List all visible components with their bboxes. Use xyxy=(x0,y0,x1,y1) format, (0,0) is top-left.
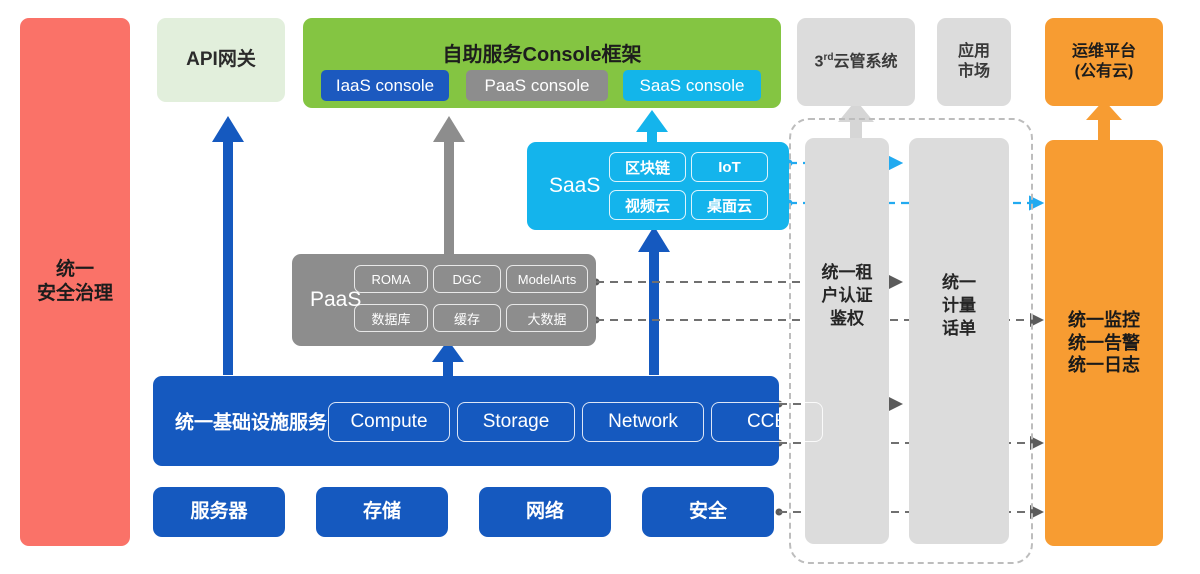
infra-service-network[interactable]: Network xyxy=(582,402,704,442)
saas-panel[interactable]: SaaS 区块链 IoT 视频云 桌面云 xyxy=(527,142,789,230)
infra-service-storage[interactable]: Storage xyxy=(457,402,575,442)
hardware-item-security[interactable]: 安全 xyxy=(642,487,774,537)
hardware-item-server[interactable]: 服务器 xyxy=(153,487,285,537)
infra-service-cce[interactable]: CCE xyxy=(711,402,823,442)
arrow-infra-to-saas xyxy=(638,226,670,375)
lane-unified-metering xyxy=(909,138,1009,544)
paas-service-dgc[interactable]: DGC xyxy=(433,265,501,293)
arrow-to-ops-platform xyxy=(1086,100,1122,140)
security-governance-pillar[interactable]: 统一 安全治理 xyxy=(20,18,130,546)
unified-infrastructure-label: 统一基础设施服务 xyxy=(175,408,327,435)
iaas-console-chip[interactable]: IaaS console xyxy=(321,70,449,101)
api-gateway-box[interactable]: API网关 xyxy=(157,18,285,102)
infra-service-compute[interactable]: Compute xyxy=(328,402,450,442)
paas-service-cache[interactable]: 缓存 xyxy=(433,304,501,332)
lane-unified-auth-label: 统一租 户认证 鉴权 xyxy=(805,262,889,331)
lane-unified-metering-label: 统一 计量 话单 xyxy=(909,272,1009,341)
saas-service-iot[interactable]: IoT xyxy=(691,152,768,182)
ops-monitoring-pillar[interactable]: 统一监控 统一告警 统一日志 xyxy=(1045,140,1163,546)
unified-infrastructure-bar[interactable]: 统一基础设施服务 Compute Storage Network CCE xyxy=(153,376,779,466)
saas-panel-label: SaaS xyxy=(549,174,600,198)
paas-service-roma[interactable]: ROMA xyxy=(354,265,428,293)
saas-service-video-cloud[interactable]: 视频云 xyxy=(609,190,686,220)
paas-service-bigdata[interactable]: 大数据 xyxy=(506,304,588,332)
app-market-box[interactable]: 应用 市场 xyxy=(937,18,1011,106)
saas-console-chip[interactable]: SaaS console xyxy=(623,70,761,101)
paas-service-modelarts[interactable]: ModelArts xyxy=(506,265,588,293)
architecture-diagram: 统一租 户认证 鉴权 统一 计量 话单 统一 安全治理 API网关 自助服务Co… xyxy=(0,0,1200,574)
arrow-paas-to-console xyxy=(433,116,465,255)
third-party-cloud-management-box[interactable]: 3rd云管系统 xyxy=(797,18,915,106)
saas-service-desktop-cloud[interactable]: 桌面云 xyxy=(691,190,768,220)
hardware-item-network[interactable]: 网络 xyxy=(479,487,611,537)
paas-panel[interactable]: PaaS ROMA DGC ModelArts 数据库 缓存 大数据 xyxy=(292,254,596,346)
console-framework-title: 自助服务Console框架 xyxy=(303,38,781,67)
paas-console-chip[interactable]: PaaS console xyxy=(466,70,608,101)
saas-service-blockchain[interactable]: 区块链 xyxy=(609,152,686,182)
self-service-console-framework[interactable]: 自助服务Console框架 IaaS console PaaS console … xyxy=(303,18,781,108)
ops-platform-box[interactable]: 运维平台 (公有云) xyxy=(1045,18,1163,106)
hardware-item-storage[interactable]: 存储 xyxy=(316,487,448,537)
third-party-label: 3rd云管系统 xyxy=(815,52,898,72)
third-party-superscript: rd xyxy=(823,52,833,63)
paas-service-database[interactable]: 数据库 xyxy=(354,304,428,332)
arrow-infra-to-api-gateway xyxy=(212,116,244,375)
lane-unified-auth xyxy=(805,138,889,544)
